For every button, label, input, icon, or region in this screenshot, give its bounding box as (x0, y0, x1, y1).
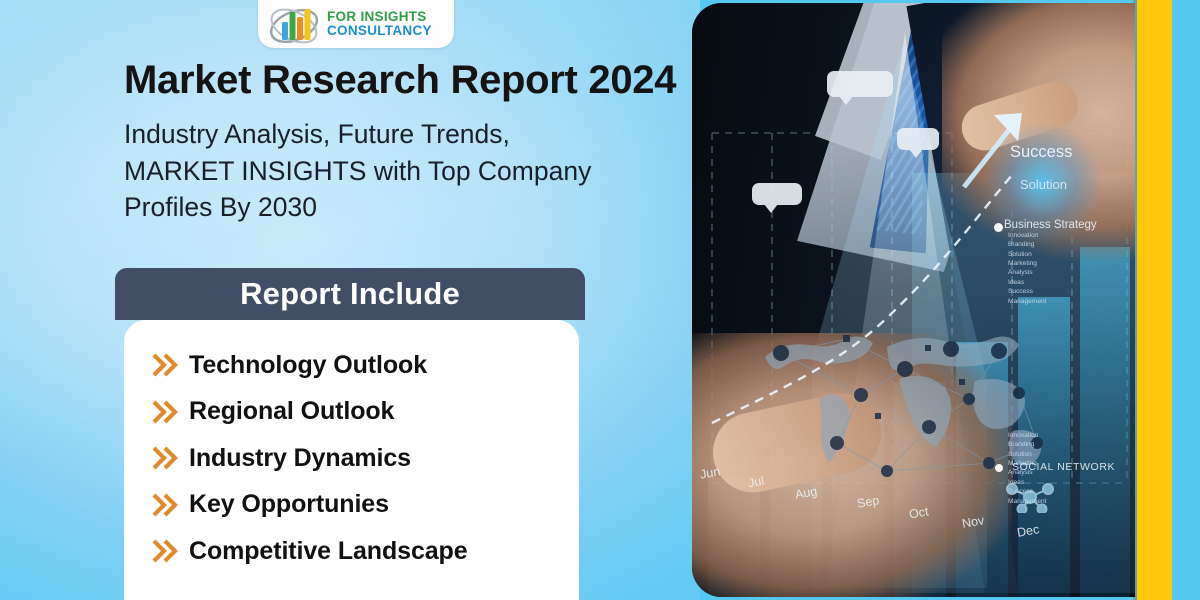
label-solution: Solution (1020, 177, 1067, 192)
list-item[interactable]: Regional Outlook (124, 389, 579, 436)
subtitle-line-1: Industry Analysis, Future Trends, (124, 116, 699, 153)
speech-bubble-icon (827, 71, 893, 97)
report-include-title: Report Include (240, 276, 460, 312)
list-item[interactable]: Competitive Landscape (124, 528, 579, 575)
double-chevron-icon (152, 492, 182, 518)
list-item-label: Competitive Landscape (189, 537, 468, 566)
subtitle-line-2: MARKET INSIGHTS with Top Company (124, 153, 699, 190)
axis-tick-label: Nov (961, 513, 985, 531)
list-item-label: Industry Dynamics (189, 444, 411, 473)
list-item-label: Regional Outlook (189, 397, 394, 426)
keyword: Solution (1008, 250, 1047, 259)
double-chevron-icon (152, 399, 182, 425)
logo-text: FOR INSIGHTS CONSULTANCY (327, 10, 432, 38)
keyword: Ideas (1008, 278, 1047, 287)
double-chevron-icon (152, 538, 182, 564)
axis-tick-label: Oct (908, 504, 930, 521)
company-logo[interactable]: FOR INSIGHTS CONSULTANCY (258, 0, 454, 48)
axis-tick-label: Aug (794, 484, 818, 502)
label-success: Success (1010, 143, 1072, 162)
keyword: Management (1008, 297, 1047, 306)
subtitle-line-3: Profiles By 2030 (124, 189, 699, 226)
marketing-banner: FOR INSIGHTS CONSULTANCY Market Research… (0, 0, 1200, 600)
label-business-strategy: Business Strategy (1004, 219, 1097, 231)
report-include-list: Technology Outlook Regional Outlook Indu… (124, 342, 579, 575)
axis-tick-label: Sep (856, 493, 880, 511)
dashed-trend-line (692, 123, 1135, 443)
axis-tick-label: Dec (1016, 522, 1040, 540)
list-item[interactable]: Industry Dynamics (124, 435, 579, 482)
keyword: Success (1008, 287, 1047, 296)
double-chevron-icon (152, 352, 182, 378)
axis-tick-label: Jun (699, 464, 721, 481)
logo-line1: FOR INSIGHTS (327, 10, 432, 24)
keyword: Innovation (1008, 231, 1047, 240)
logo-line2: CONSULTANCY (327, 24, 432, 38)
list-item[interactable]: Technology Outlook (124, 342, 579, 389)
keyword: Branding (1008, 440, 1047, 449)
keyword: Analysis (1008, 268, 1047, 277)
list-item[interactable]: Key Opportunies (124, 482, 579, 529)
keyword: Marketing (1008, 259, 1047, 268)
list-item-label: Technology Outlook (189, 351, 427, 380)
speech-bubble-icon (897, 128, 939, 150)
report-include-header: Report Include (115, 268, 585, 320)
speech-bubble-icon (752, 183, 802, 205)
keyword-list-top: Innovation Branding Solution Marketing A… (1008, 231, 1047, 306)
keyword: Innovation (1008, 431, 1047, 440)
list-item-label: Key Opportunies (189, 490, 389, 519)
page-title: Market Research Report 2024 (124, 58, 694, 103)
page-subtitle: Industry Analysis, Future Trends, MARKET… (124, 116, 699, 226)
chart-month-axis: Jun Jul Aug Sep Oct Nov Dec (692, 458, 1135, 548)
report-include-card: Technology Outlook Regional Outlook Indu… (124, 320, 579, 600)
hero-photo: Success Solution Business Strategy Innov… (692, 3, 1135, 597)
yellow-accent-strip (1137, 0, 1172, 600)
keyword: Branding (1008, 240, 1047, 249)
label-bullet-dot (994, 223, 1003, 232)
axis-tick-label: Jul (747, 474, 765, 491)
double-chevron-icon (152, 445, 182, 471)
logo-bar-chart-globe-icon (268, 4, 320, 44)
